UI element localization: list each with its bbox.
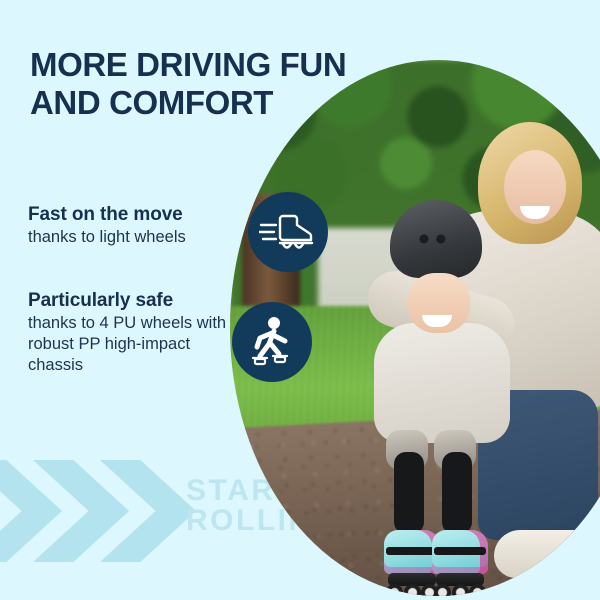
girl-leg [442,452,472,534]
feature-block-safe: Particularly safe thanks to 4 PU wheels … [28,289,233,376]
feature-title: Fast on the move [28,203,233,226]
girl-body [374,323,510,443]
feature-block-fast: Fast on the move thanks to light wheels [28,203,233,248]
badge-fast [248,192,328,272]
badge-safe [232,302,312,382]
page-title: MORE DRIVING FUN AND COMFORT [30,46,370,122]
promo-banner: START ROLLING [0,0,600,600]
inline-skate [432,530,488,600]
feature-title: Particularly safe [28,289,233,312]
chevron-decoration [0,460,196,562]
girl-leg [394,452,424,534]
skating-person-icon [247,316,297,368]
feature-description: thanks to 4 PU wheels with robust PP hig… [28,313,233,376]
woman-sneaker [494,530,598,578]
feature-description: thanks to light wheels [28,227,233,248]
inline-skate-speed-icon [259,210,317,254]
